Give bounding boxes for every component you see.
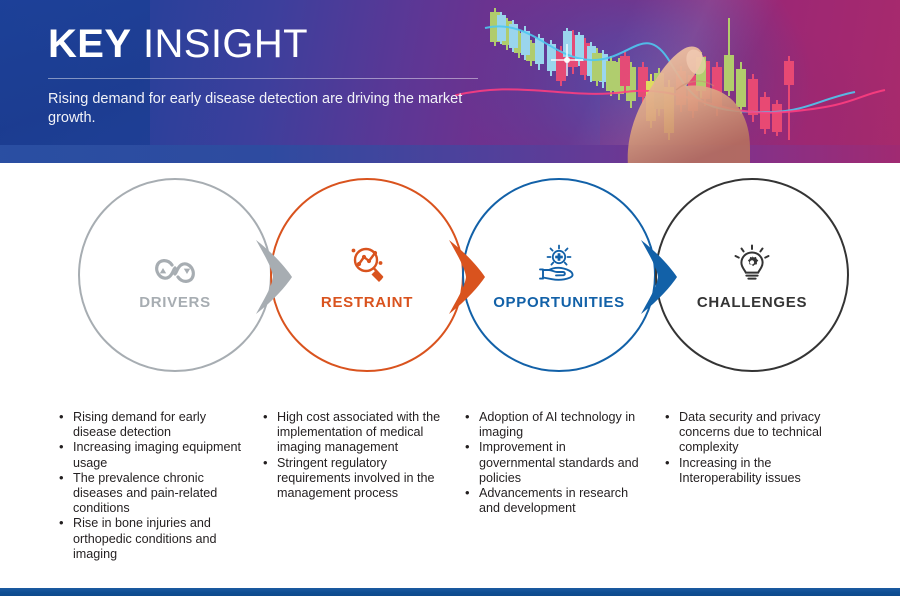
list-item: Rising demand for early disease detectio… [58,410,248,440]
page-subtitle: Rising demand for early disease detectio… [48,90,486,128]
arrow-restraint-to-opportunities-icon [445,238,489,316]
bullet-column-restraint: High cost associated with the implementa… [262,410,442,501]
list-item: Stringent regulatory requirements involv… [262,456,442,502]
circle-node-challenges[interactable]: CHALLENGES [655,178,849,372]
infographic-root: KEY INSIGHT Rising demand for early dise… [0,0,900,602]
circle-label-drivers: DRIVERS [139,294,211,311]
header-text-block: KEY INSIGHT Rising demand for early dise… [48,20,498,128]
bullet-column-opportunities: Adoption of AI technology in imaging Imp… [464,410,644,516]
circle-label-opportunities: OPPORTUNITIES [493,294,625,311]
list-item: Increasing in the Interoperability issue… [664,456,854,486]
drivers-icon-wrap [152,240,198,286]
hand-holding-medical-cross-icon [536,244,582,286]
page-title-light: INSIGHT [143,22,308,66]
header-bottom-band [0,145,900,163]
circle-label-challenges: CHALLENGES [697,294,807,311]
bullet-list-restraint: High cost associated with the implementa… [262,410,442,501]
bullet-list-drivers: Rising demand for early disease detectio… [58,410,248,562]
page-title-bold: KEY [48,22,131,66]
candlestick-chart-icon [455,0,900,163]
bullet-column-challenges: Data security and privacy concerns due t… [664,410,854,486]
hand-photo-icon [590,28,790,163]
challenges-icon-wrap [731,240,773,286]
list-item: High cost associated with the implementa… [262,410,442,456]
title-divider [48,78,478,79]
header-blue-glow [470,0,810,163]
infinity-cycle-icon [152,256,198,286]
circle-node-drivers[interactable]: DRIVERS [78,178,272,372]
bullet-list-challenges: Data security and privacy concerns due t… [664,410,854,486]
header-light-sweep [430,0,900,163]
bullet-columns: Rising demand for early disease detectio… [0,410,900,570]
list-item: The prevalence chronic diseases and pain… [58,471,248,517]
page-title: KEY INSIGHT [48,20,498,68]
list-item: Increasing imaging equipment usage [58,440,248,470]
list-item: Data security and privacy concerns due t… [664,410,854,456]
circle-node-restraint[interactable]: RESTRAINT [270,178,464,372]
restraint-icon-wrap [345,240,389,286]
list-item: Improvement in governmental standards an… [464,440,644,486]
header-banner: KEY INSIGHT Rising demand for early dise… [0,0,900,163]
magnifier-analytics-icon [345,244,389,286]
opportunities-icon-wrap [536,240,582,286]
process-circles-row: DRIVERS [0,178,900,396]
circle-label-restraint: RESTRAINT [321,294,413,311]
list-item: Advancements in research and development [464,486,644,516]
circle-node-opportunities[interactable]: OPPORTUNITIES [462,178,656,372]
bullet-column-drivers: Rising demand for early disease detectio… [58,410,248,562]
arrow-drivers-to-restraint-icon [252,238,296,316]
lightbulb-gear-icon [731,244,773,286]
list-item: Adoption of AI technology in imaging [464,410,644,440]
bullet-list-opportunities: Adoption of AI technology in imaging Imp… [464,410,644,516]
list-item: Rise in bone injuries and orthopedic con… [58,516,248,562]
footer-accent-bar [0,588,900,596]
arrow-opportunities-to-challenges-icon [637,238,681,316]
header-magenta-glow [600,30,900,163]
